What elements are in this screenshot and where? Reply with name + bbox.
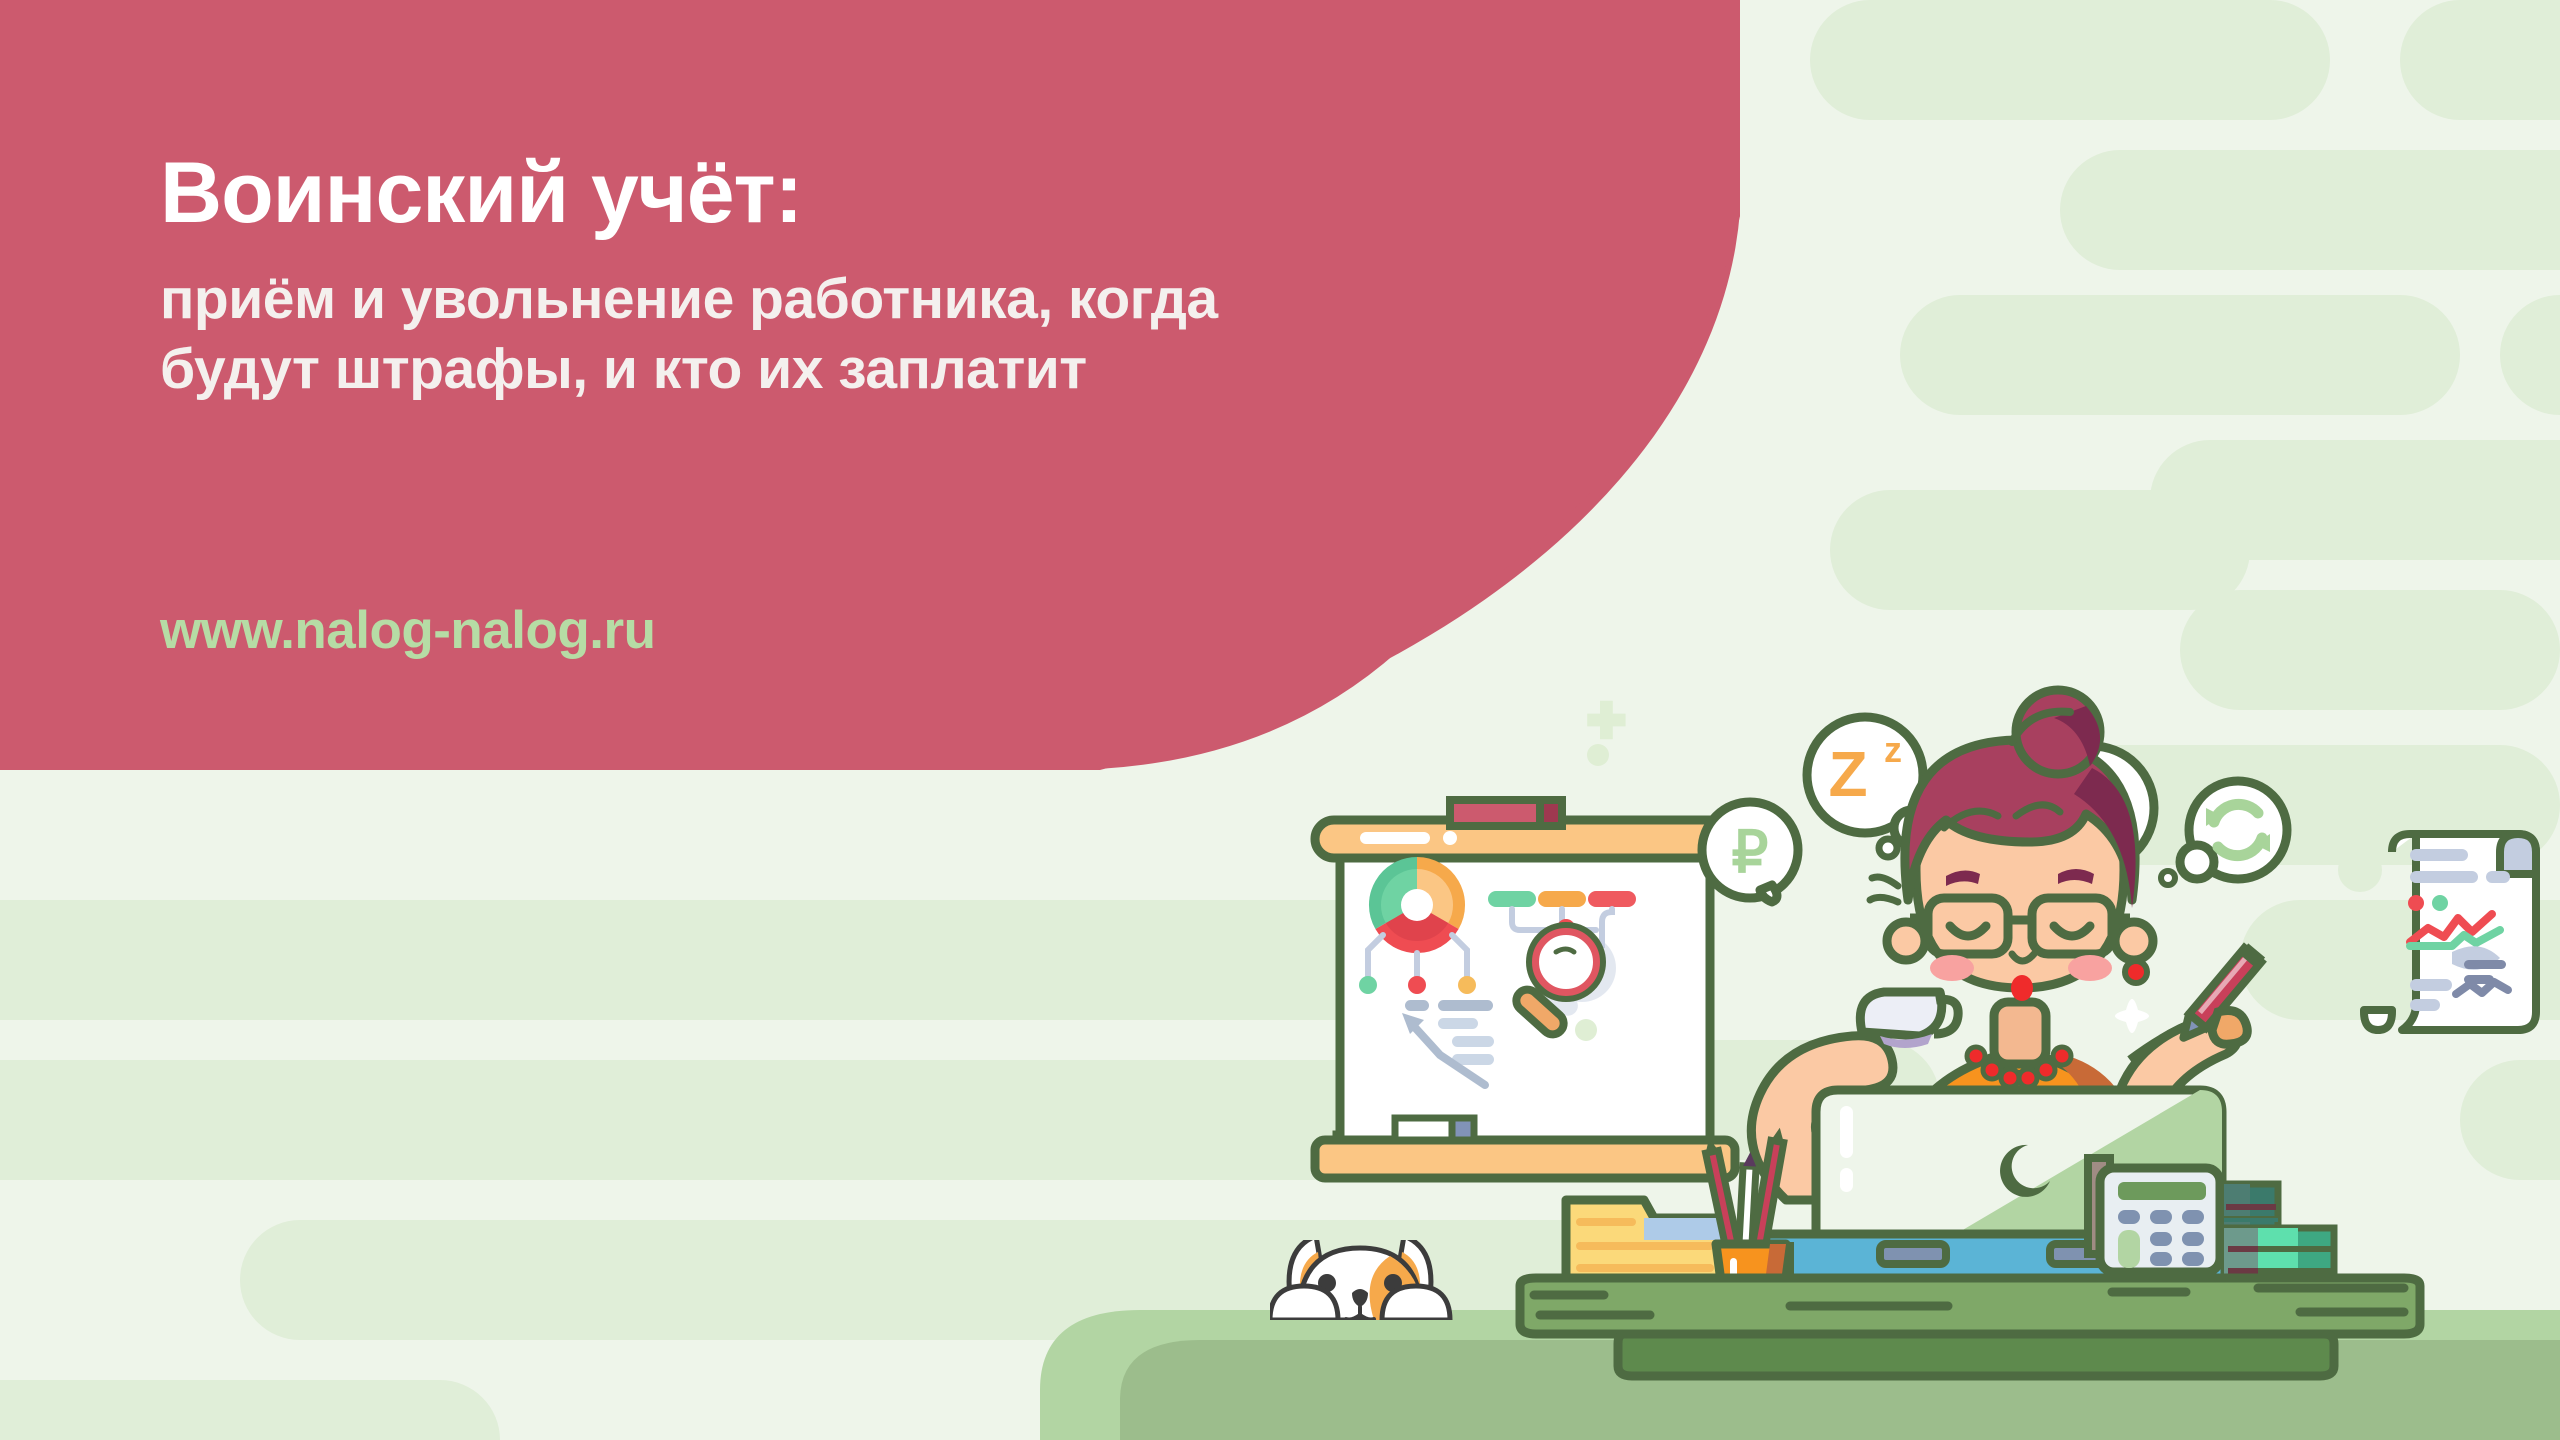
presentation-board — [1315, 800, 1735, 1178]
refresh-bubble — [2161, 781, 2287, 885]
calculator — [2088, 1158, 2220, 1272]
illustration: ₽ Z z % — [0, 0, 2560, 1440]
desk — [1520, 1278, 2420, 1376]
poster-canvas: ₽ Z z % — [0, 0, 2560, 1440]
svg-text:z: z — [1884, 729, 1902, 770]
svg-text:Z: Z — [1828, 738, 1867, 810]
ruble-bubble: ₽ — [1702, 802, 1798, 902]
svg-text:₽: ₽ — [1732, 820, 1769, 885]
cat — [1270, 1236, 1450, 1320]
sparkle-white — [2115, 999, 2149, 1033]
book-stack — [2224, 1184, 2334, 1286]
report-document — [2364, 834, 2536, 1030]
